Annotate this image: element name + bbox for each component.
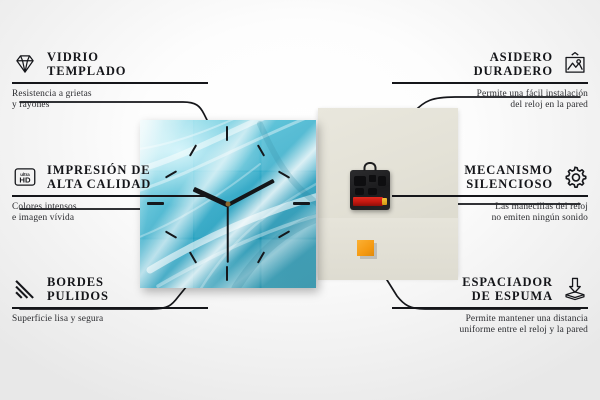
feature-divider [392, 195, 588, 197]
mechanism-slot [368, 188, 377, 195]
feature-divider [12, 82, 208, 84]
arrow-down-onto-pad-icon [562, 276, 588, 302]
mechanism-slot [378, 176, 386, 186]
mechanism-hanger [364, 162, 377, 171]
feature-header: ASIDERO DURADERO [392, 50, 588, 78]
hanging-picture-frame-icon [562, 51, 588, 77]
feature-espaciador-de-espuma: ESPACIADOR DE ESPUMA Permite mantener un… [392, 275, 588, 337]
feature-vidrio-templado: VIDRIO TEMPLADO Resistencia a grietas y … [12, 50, 208, 112]
tick-3 [293, 202, 310, 205]
feature-header: ESPACIADOR DE ESPUMA [392, 275, 588, 303]
feature-asidero-duradero: ASIDERO DURADERO Permite una fácil insta… [392, 50, 588, 112]
feature-subtitle: Permite mantener una distancia uniforme … [392, 314, 588, 337]
mechanism-slot [354, 176, 366, 186]
foam-spacer [357, 240, 374, 256]
ultra-hd-badge-icon: ultra HD [12, 164, 38, 190]
photo-backdrop-lower [318, 218, 458, 280]
feature-impresion-alta-calidad: ultra HD IMPRESIÓN DE ALTA CALIDAD Color… [12, 163, 208, 225]
feature-subtitle: Resistencia a grietas y rayones [12, 89, 208, 112]
gear-icon [562, 164, 588, 190]
feature-header: VIDRIO TEMPLADO [12, 50, 208, 78]
feature-subtitle: Colores intensos e imagen vívida [12, 202, 208, 225]
clock-mechanism [350, 170, 390, 210]
feature-divider [12, 195, 208, 197]
feature-subtitle: Las manecillas del reloj no emiten ningú… [392, 202, 588, 225]
feature-title: MECANISMO SILENCIOSO [464, 163, 553, 191]
feature-bordes-pulidos: BORDES PULIDOS Superficie lisa y segura [12, 275, 208, 325]
feature-subtitle: Permite una fácil instalación del reloj … [392, 89, 588, 112]
feature-title: ESPACIADOR DE ESPUMA [462, 275, 553, 303]
feature-divider [392, 82, 588, 84]
feature-header: ultra HD IMPRESIÓN DE ALTA CALIDAD [12, 163, 208, 191]
feature-header: MECANISMO SILENCIOSO [392, 163, 588, 191]
mechanism-slot [369, 175, 376, 182]
feature-title: IMPRESIÓN DE ALTA CALIDAD [47, 163, 151, 191]
feature-title: ASIDERO DURADERO [474, 50, 553, 78]
diagonal-stripes-icon [12, 276, 38, 302]
diamond-icon [12, 51, 38, 77]
aa-battery [353, 197, 383, 206]
feature-subtitle: Superficie lisa y segura [12, 314, 208, 326]
second-hand [227, 205, 229, 263]
feature-divider [12, 307, 208, 309]
clock-center-pin [226, 202, 231, 207]
mechanism-slot [355, 188, 364, 195]
badge-bottom-text: HD [19, 176, 31, 185]
feature-title: VIDRIO TEMPLADO [47, 50, 126, 78]
infographic-canvas: VIDRIO TEMPLADO Resistencia a grietas y … [0, 0, 600, 400]
feature-divider [392, 307, 588, 309]
feature-mecanismo-silencioso: MECANISMO SILENCIOSO Las manecillas del … [392, 163, 588, 225]
feature-title: BORDES PULIDOS [47, 275, 109, 303]
feature-header: BORDES PULIDOS [12, 275, 208, 303]
